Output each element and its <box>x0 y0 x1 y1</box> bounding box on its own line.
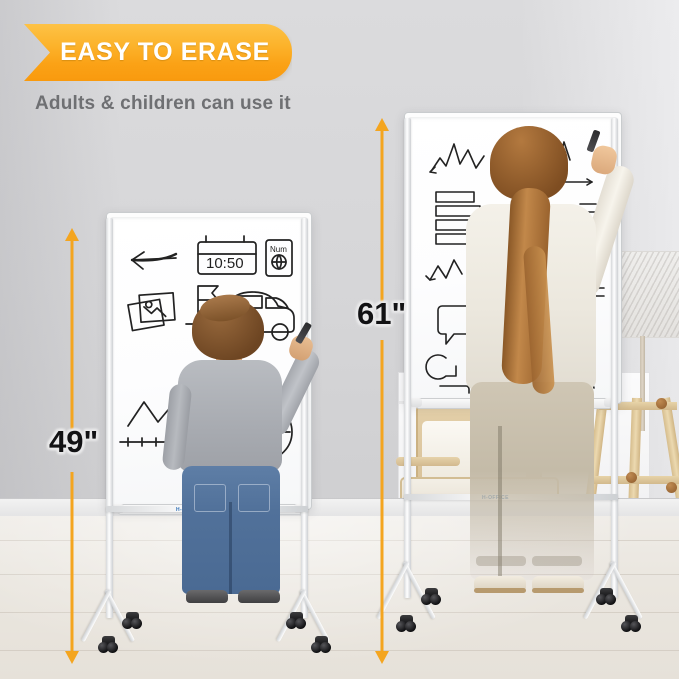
adult-pants <box>470 382 594 580</box>
child-sweater <box>178 360 282 472</box>
promo-banner-headline: EASY TO ERASE <box>24 24 292 81</box>
arrow-shaft-upper-49 <box>71 239 74 441</box>
arrow-head-down-49 <box>65 651 79 664</box>
adult-user <box>440 126 630 596</box>
arrow-shaft-lower-61 <box>381 340 384 651</box>
stand-post-small-left <box>106 218 113 618</box>
clock-doodle-text: 10:50 <box>206 255 244 272</box>
measure-arrow-49: 49" <box>52 228 92 664</box>
book-doodle-text: Num <box>270 245 287 254</box>
measure-label-49: 49" <box>49 424 98 460</box>
caster-small-2 <box>122 612 143 629</box>
caster-small-1 <box>98 636 119 653</box>
child-shoe-right <box>238 590 280 603</box>
product-lifestyle-image: H-OFFICE <box>0 0 679 679</box>
arrow-shaft-upper-61 <box>381 129 384 305</box>
child-shoe-left <box>186 590 228 603</box>
caster-large-3 <box>621 615 642 632</box>
arrow-head-down-61 <box>375 651 389 664</box>
arrow-shaft-lower-49 <box>71 472 74 653</box>
child-user <box>142 298 322 618</box>
promo-subtitle: Adults & children can use it <box>35 93 291 115</box>
caster-small-3 <box>311 636 332 653</box>
stand-post-large-left <box>404 118 411 598</box>
measure-arrow-61: 61" <box>362 118 402 664</box>
caster-large-2 <box>421 588 442 605</box>
measure-label-61: 61" <box>357 296 406 332</box>
